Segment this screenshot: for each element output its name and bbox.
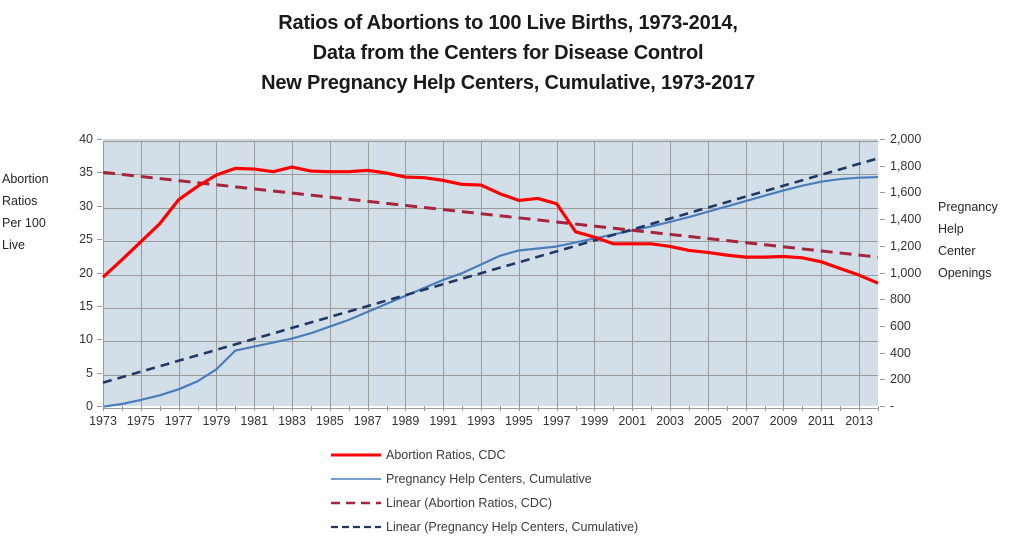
x-axis-tick-label: 1981 [234,414,274,428]
trendline-pregnancy-help-centers [103,158,878,382]
right-axis-tick-mark [880,379,885,380]
x-axis-tick-mark [424,406,425,411]
x-axis-tick-mark [387,406,388,411]
x-axis-tick-mark [368,406,369,411]
left-axis-tick-label: 10 [65,332,93,346]
x-axis-tick-label: 1977 [159,414,199,428]
x-axis-tick-mark [273,406,274,411]
right-axis-tick-mark [880,299,885,300]
left-axis-tick-label: 40 [65,132,93,146]
right-axis-title-line-4: Openings [938,262,1016,284]
right-axis-tick-mark [880,219,885,220]
x-axis-tick-mark [859,406,860,411]
left-axis-tick-label: 20 [65,266,93,280]
left-axis-tick-label: 5 [65,366,93,380]
x-axis-tick-mark [557,406,558,411]
x-axis-tick-mark [708,406,709,411]
x-axis-tick-label: 2007 [726,414,766,428]
right-axis-tick-label: 400 [890,346,932,360]
right-axis-tick-label: 200 [890,372,932,386]
x-axis-tick-label: 2005 [688,414,728,428]
right-axis-tick-mark [880,166,885,167]
left-axis-tick-label: 35 [65,165,93,179]
x-axis-tick-label: 1973 [83,414,123,428]
left-axis-tick-mark [97,339,102,340]
x-axis-tick-mark [727,406,728,411]
legend-item-label: Pregnancy Help Centers, Cumulative [386,472,592,486]
right-axis-title: Pregnancy Help Center Openings [938,196,1016,284]
x-axis-tick-mark [783,406,784,411]
chart-figure: Ratios of Abortions to 100 Live Births, … [0,0,1016,552]
left-axis-tick-mark [97,306,102,307]
right-axis-tick-mark [880,406,885,407]
x-axis-tick-label: 1991 [423,414,463,428]
x-axis-tick-mark [103,406,104,411]
left-axis-tick-mark [97,172,102,173]
right-axis-title-line-3: Center [938,240,1016,262]
x-axis-tick-mark [292,406,293,411]
left-axis-tick-mark [97,273,102,274]
right-axis-tick-label: 1,000 [890,266,932,280]
left-axis-tick-label: 25 [65,232,93,246]
x-axis-tick-mark [160,406,161,411]
right-axis-tick-label: 1,600 [890,185,932,199]
legend-key-swatch [330,496,382,510]
x-axis-tick-mark [349,406,350,411]
x-axis-tick-mark [405,406,406,411]
right-axis-tick-mark [880,246,885,247]
x-axis-tick-mark [481,406,482,411]
x-axis-tick-label: 1989 [385,414,425,428]
right-axis-tick-mark [880,139,885,140]
left-axis-tick-mark [97,239,102,240]
x-axis-tick-mark [746,406,747,411]
x-axis-tick-label: 1987 [348,414,388,428]
x-axis-tick-mark [443,406,444,411]
x-axis-tick-mark [198,406,199,411]
x-axis-tick-mark [632,406,633,411]
left-axis-title-line-1: Abortion [2,168,74,190]
x-axis-tick-mark [821,406,822,411]
left-axis-title-line-2: Ratios [2,190,74,212]
x-axis-tick-mark [670,406,671,411]
x-axis-tick-mark [179,406,180,411]
chart-title-line-3: New Pregnancy Help Centers, Cumulative, … [108,68,908,98]
x-axis-tick-label: 1979 [196,414,236,428]
x-axis-tick-mark [576,406,577,411]
legend-item-label: Abortion Ratios, CDC [386,448,506,462]
left-axis-tick-mark [97,139,102,140]
x-axis-tick-label: 1997 [537,414,577,428]
x-axis-tick-label: 1993 [461,414,501,428]
x-axis-tick-mark [235,406,236,411]
right-axis-tick-label: 800 [890,292,932,306]
right-axis-tick-mark [880,273,885,274]
left-axis-tick-mark [97,406,102,407]
x-axis-tick-label: 1999 [574,414,614,428]
right-axis-tick-label: 1,200 [890,239,932,253]
x-axis-tick-mark [500,406,501,411]
x-axis-tick-mark [141,406,142,411]
left-axis-title: Abortion Ratios Per 100 Live [2,168,74,256]
x-axis-tick-label: 2003 [650,414,690,428]
left-axis-tick-mark [97,206,102,207]
right-axis-tick-label: 600 [890,319,932,333]
x-axis-tick-label: 1983 [272,414,312,428]
x-axis-tick-mark [613,406,614,411]
x-axis-tick-mark [878,406,879,411]
right-axis-tick-label: - [890,399,932,413]
plot-series-layer [103,141,878,408]
trendline-abortion-ratios [103,172,878,257]
left-axis-tick-label: 0 [65,399,93,413]
horizontal-gridline [103,408,878,409]
x-axis-tick-label: 1985 [310,414,350,428]
chart-title-line-2: Data from the Centers for Disease Contro… [108,38,908,68]
chart-legend: Abortion Ratios, CDCPregnancy Help Cente… [330,443,850,539]
left-axis-tick-label: 15 [65,299,93,313]
series-line-pregnancy-help-centers [103,177,878,407]
right-axis-tick-label: 1,400 [890,212,932,226]
x-axis-tick-mark [765,406,766,411]
x-axis-tick-mark [122,406,123,411]
right-axis-tick-mark [880,192,885,193]
x-axis-tick-mark [538,406,539,411]
x-axis-tick-mark [519,406,520,411]
left-axis-title-line-4: Live [2,234,74,256]
chart-title: Ratios of Abortions to 100 Live Births, … [108,8,908,98]
x-axis-tick-mark [802,406,803,411]
legend-item-label: Linear (Pregnancy Help Centers, Cumulati… [386,520,638,534]
right-axis-tick-mark [880,353,885,354]
x-axis-tick-label: 2009 [763,414,803,428]
legend-item-label: Linear (Abortion Ratios, CDC) [386,496,552,510]
right-axis-tick-label: 1,800 [890,159,932,173]
x-axis-tick-label: 2001 [612,414,652,428]
left-axis-tick-label: 30 [65,199,93,213]
x-axis-tick-label: 2013 [839,414,879,428]
left-axis-tick-mark [97,373,102,374]
legend-item: Linear (Pregnancy Help Centers, Cumulati… [330,515,850,539]
left-axis-title-line-3: Per 100 [2,212,74,234]
right-axis-tick-label: 2,000 [890,132,932,146]
legend-key-swatch [330,520,382,534]
plot-area [103,139,878,406]
right-axis-title-line-1: Pregnancy [938,196,1016,218]
legend-key-swatch [330,472,382,486]
x-axis-tick-mark [462,406,463,411]
x-axis-tick-mark [689,406,690,411]
x-axis-tick-mark [651,406,652,411]
x-axis-tick-mark [594,406,595,411]
x-axis-tick-label: 1995 [499,414,539,428]
x-axis-tick-mark [311,406,312,411]
x-axis-tick-mark [840,406,841,411]
x-axis-tick-label: 1975 [121,414,161,428]
legend-item: Abortion Ratios, CDC [330,443,850,467]
legend-item: Pregnancy Help Centers, Cumulative [330,467,850,491]
x-axis-tick-label: 2011 [801,414,841,428]
right-axis-tick-mark [880,326,885,327]
chart-title-line-1: Ratios of Abortions to 100 Live Births, … [108,8,908,38]
legend-key-swatch [330,448,382,462]
x-axis-tick-mark [254,406,255,411]
x-axis-tick-mark [216,406,217,411]
x-axis-tick-mark [330,406,331,411]
legend-item: Linear (Abortion Ratios, CDC) [330,491,850,515]
right-axis-title-line-2: Help [938,218,1016,240]
